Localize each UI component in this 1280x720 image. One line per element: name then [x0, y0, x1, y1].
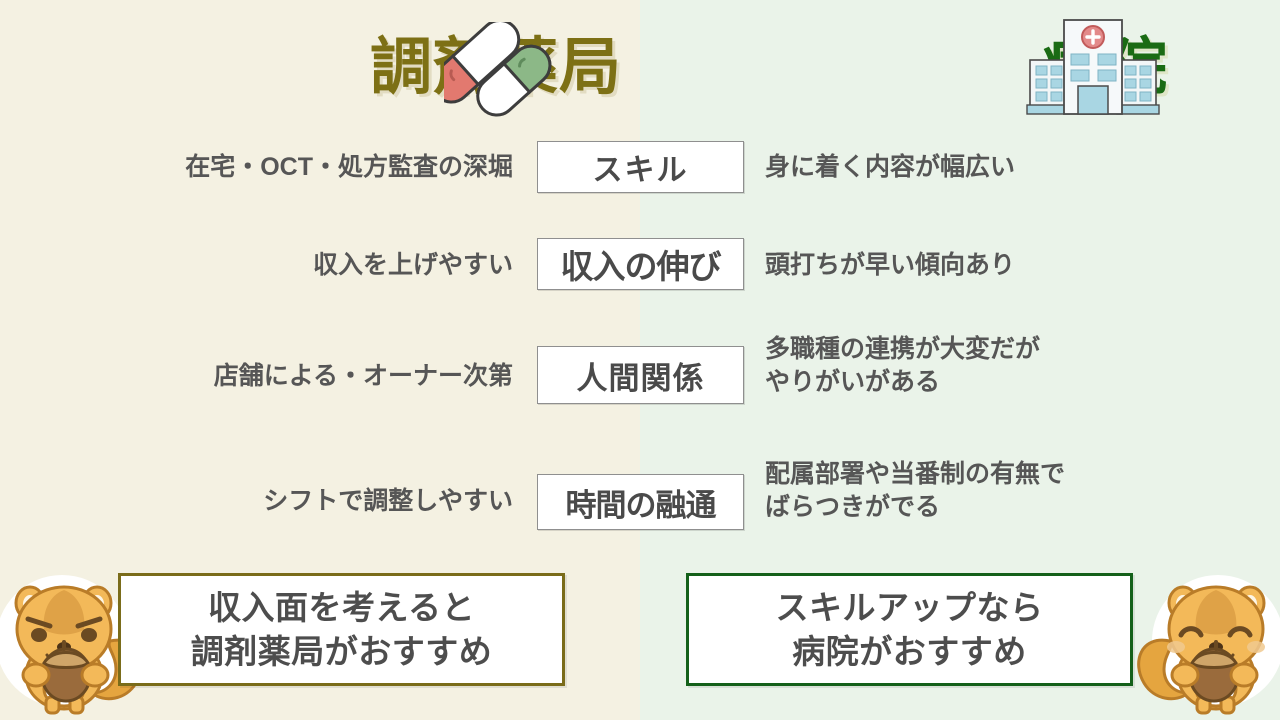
- row-right-line: 多職種の連携が大変だが: [765, 333, 1040, 366]
- row-label-box: 時間の融通: [537, 474, 744, 530]
- row-left-text: 収入を上げやすい: [313, 249, 513, 281]
- squirrel-acorn-happy-icon: [1136, 563, 1280, 718]
- row-left-text: 店舗による・オーナー次第: [214, 360, 513, 392]
- infographic-canvas: 調剤薬局 病院: [0, 0, 1280, 720]
- row-right-line: ばらつきがでる: [765, 491, 1065, 524]
- right-conclusion-box: スキルアップなら 病院がおすすめ: [686, 573, 1133, 686]
- hospital-building-icon: [1026, 12, 1160, 122]
- row-right-text: 配属部署や当番制の有無で ばらつきがでる: [765, 458, 1065, 524]
- row-label-box: 人間関係: [537, 346, 744, 404]
- row-left-text: シフトで調整しやすい: [263, 485, 513, 517]
- right-header: 病院: [640, 14, 1280, 122]
- row-right-line: 身に着く内容が幅広い: [765, 151, 1015, 184]
- conclusion-line: スキルアップなら: [776, 586, 1044, 630]
- left-conclusion-box: 収入面を考えると 調剤薬局がおすすめ: [118, 573, 565, 686]
- row-right-line: 頭打ちが早い傾向あり: [765, 249, 1015, 282]
- row-right-text: 身に着く内容が幅広い: [765, 151, 1015, 184]
- right-conclusion-text: スキルアップなら 病院がおすすめ: [776, 586, 1044, 674]
- row-right-text: 多職種の連携が大変だが やりがいがある: [765, 333, 1040, 399]
- row-right-line: やりがいがある: [765, 366, 1040, 399]
- conclusion-line: 調剤薬局がおすすめ: [191, 630, 493, 674]
- conclusion-line: 収入面を考えると: [191, 586, 493, 630]
- conclusion-line: 病院がおすすめ: [776, 630, 1044, 674]
- row-label-box: 収入の伸び: [537, 238, 744, 290]
- pill-capsules-icon: [444, 22, 552, 122]
- row-right-line: 配属部署や当番制の有無で: [765, 458, 1065, 491]
- row-right-text: 頭打ちが早い傾向あり: [765, 249, 1015, 282]
- row-left-text: 在宅・OCT・処方監査の深堀: [185, 151, 513, 183]
- row-label-box: スキル: [537, 141, 744, 193]
- left-conclusion-text: 収入面を考えると 調剤薬局がおすすめ: [191, 586, 493, 674]
